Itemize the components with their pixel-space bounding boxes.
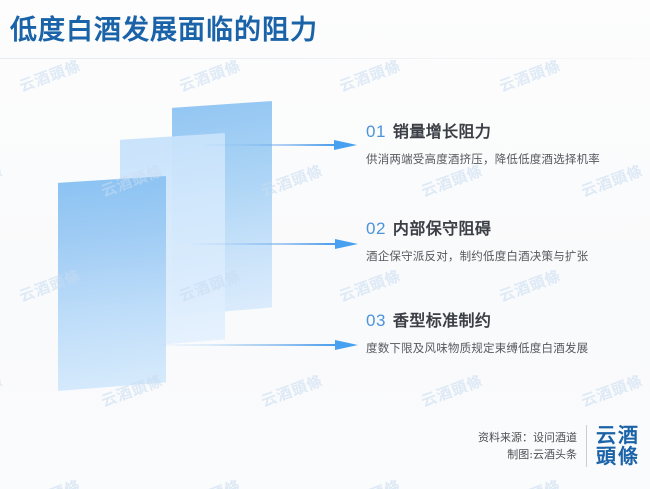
item-title: 内部保守阻碍 xyxy=(393,215,491,239)
item-heading: 03 香型标准制约 xyxy=(366,307,650,331)
item-heading: 01 销量增长阻力 xyxy=(366,118,650,142)
arrow-line xyxy=(160,344,336,346)
arrow-icon-1 xyxy=(205,139,357,151)
item-number: 01 xyxy=(366,122,386,142)
item-description: 酒企保守派反对，制约低度白酒决策与扩张 xyxy=(366,248,650,264)
footer-credits: 资料来源：设问酒道 制图:云酒头条 xyxy=(478,429,586,463)
arrow-head xyxy=(335,239,358,249)
page-title-wrap: 低度白酒发展面临的阻力 xyxy=(10,14,318,48)
panel-sheet-front xyxy=(58,176,166,391)
source-text: 资料来源：设问酒道 xyxy=(478,429,577,446)
arrow-head xyxy=(335,340,358,350)
arrow-line xyxy=(205,144,335,146)
arrow-icon-2 xyxy=(190,238,358,250)
arrow-head xyxy=(334,140,357,150)
infographic-canvas: 低度白酒发展面临的阻力 01 销量增长阻力 供消两端受高度酒挤压，降低低度酒选择… xyxy=(0,0,650,489)
item-title: 销量增长阻力 xyxy=(393,118,491,142)
list-item: 03 香型标准制约 度数下限及风味物质规定束缚低度白酒发展 xyxy=(366,307,650,356)
item-description: 度数下限及风味物质规定束缚低度白酒发展 xyxy=(366,340,650,356)
arrow-icon-3 xyxy=(160,339,358,351)
item-number: 02 xyxy=(366,219,386,239)
logo-char-3: 頭 xyxy=(596,446,616,467)
page-title: 低度白酒发展面临的阻力 xyxy=(10,14,318,48)
items-list: 01 销量增长阻力 供消两端受高度酒挤压，降低低度酒选择机率 02 内部保守阻碍… xyxy=(366,0,650,489)
logo-char-2: 酒 xyxy=(618,425,638,446)
arrow-line xyxy=(190,243,336,245)
logo-char-1: 云 xyxy=(596,425,616,446)
item-heading: 02 内部保守阻碍 xyxy=(366,215,650,239)
logo-char-4: 條 xyxy=(618,446,638,467)
list-item: 01 销量增长阻力 供消两端受高度酒挤压，降低低度酒选择机率 xyxy=(366,118,650,167)
brand-logo: 云 酒 頭 條 xyxy=(596,425,638,467)
footer-divider xyxy=(586,425,587,467)
footer: 资料来源：设问酒道 制图:云酒头条 云 酒 頭 條 xyxy=(478,425,638,467)
list-item: 02 内部保守阻碍 酒企保守派反对，制约低度白酒决策与扩张 xyxy=(366,215,650,264)
item-number: 03 xyxy=(366,311,386,331)
item-title: 香型标准制约 xyxy=(393,307,491,331)
item-description: 供消两端受高度酒挤压，降低低度酒选择机率 xyxy=(366,151,650,167)
chart-by-text: 制图:云酒头条 xyxy=(478,446,577,463)
